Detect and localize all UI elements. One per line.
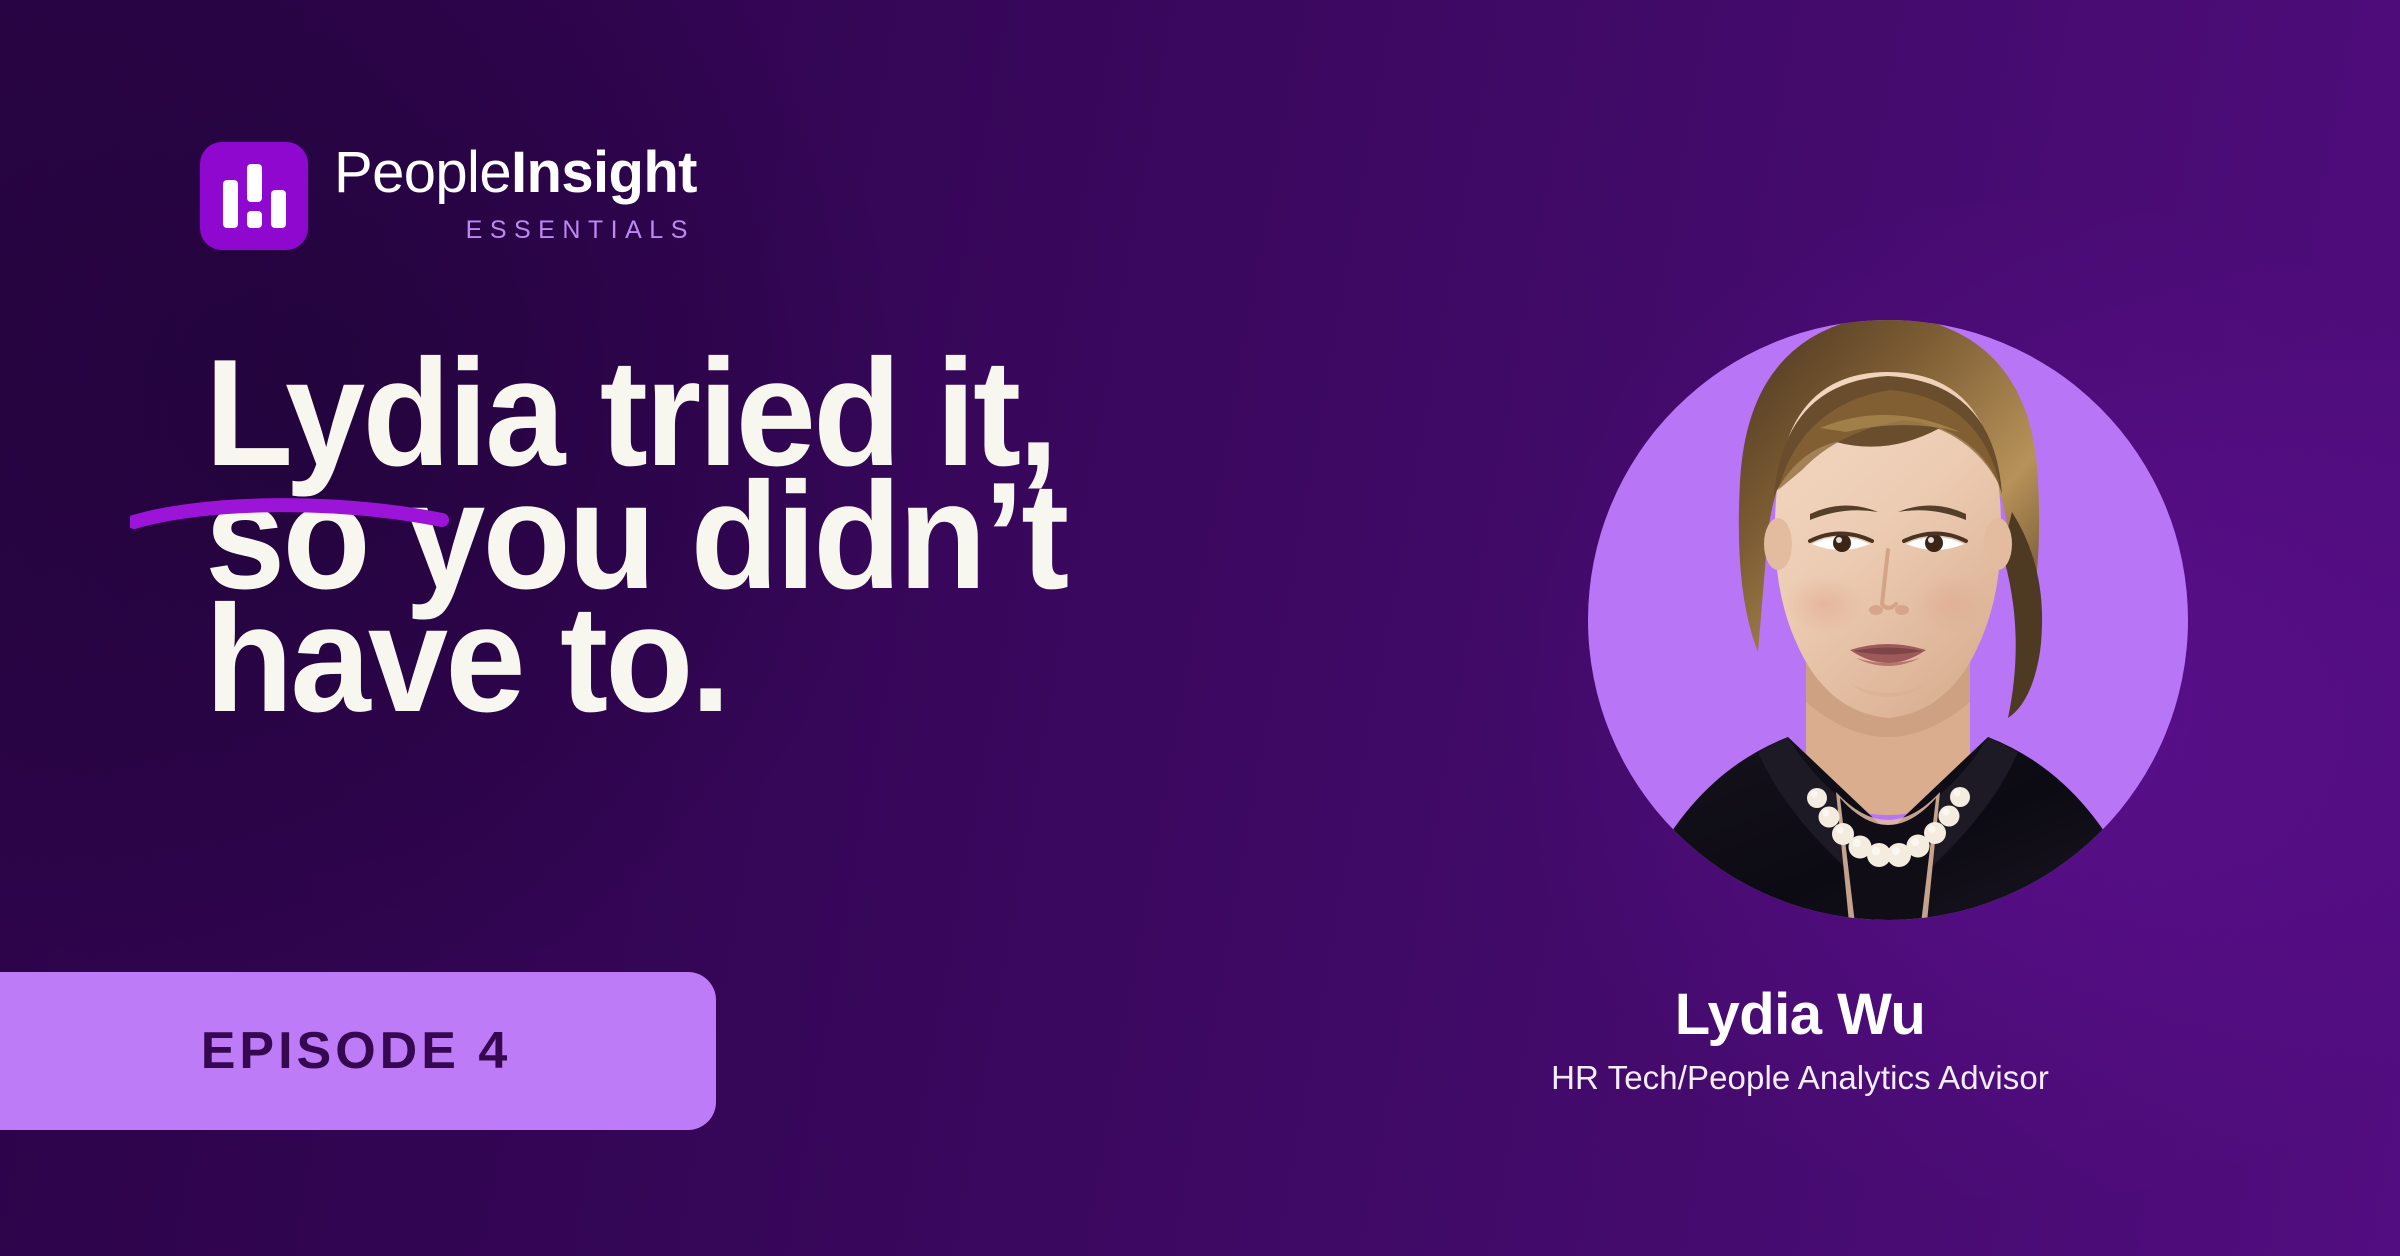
brand-sub-label: ESSENTIALS: [334, 216, 697, 245]
episode-badge-label: EPISODE 4: [165, 1021, 512, 1081]
headline: Lydia tried it, so you didn’t have to.: [205, 352, 1459, 721]
logo-bars-group: [223, 164, 285, 228]
speaker-portrait: [1588, 320, 2188, 920]
logo-bar-middle-dot: [247, 211, 262, 228]
logo-bar-right: [271, 190, 286, 228]
brand-logo-lockup[interactable]: PeopleInsight ESSENTIALS: [200, 142, 697, 250]
bar-chart-logo-icon: [200, 142, 308, 250]
episode-badge[interactable]: EPISODE 4: [0, 972, 716, 1130]
brand-wordmark-people: People: [334, 140, 511, 205]
avatar: [1588, 232, 2188, 932]
episode-promo-card: PeopleInsight ESSENTIALS Lydia tried it,…: [0, 0, 2400, 1256]
speaker-info: Lydia Wu HR Tech/People Analytics Adviso…: [1420, 985, 2180, 1096]
speaker-title: HR Tech/People Analytics Advisor: [1420, 1060, 2180, 1096]
logo-bar-middle-top: [247, 164, 262, 202]
brand-wordmark: PeopleInsight: [334, 144, 697, 202]
brand-wordmark-insight: Insight: [511, 140, 697, 205]
brand-wordmark-block: PeopleInsight ESSENTIALS: [334, 142, 697, 245]
speaker-name: Lydia Wu: [1420, 985, 2180, 1046]
headline-line-1: Lydia tried it,: [205, 352, 1459, 475]
logo-bar-left: [223, 180, 238, 228]
